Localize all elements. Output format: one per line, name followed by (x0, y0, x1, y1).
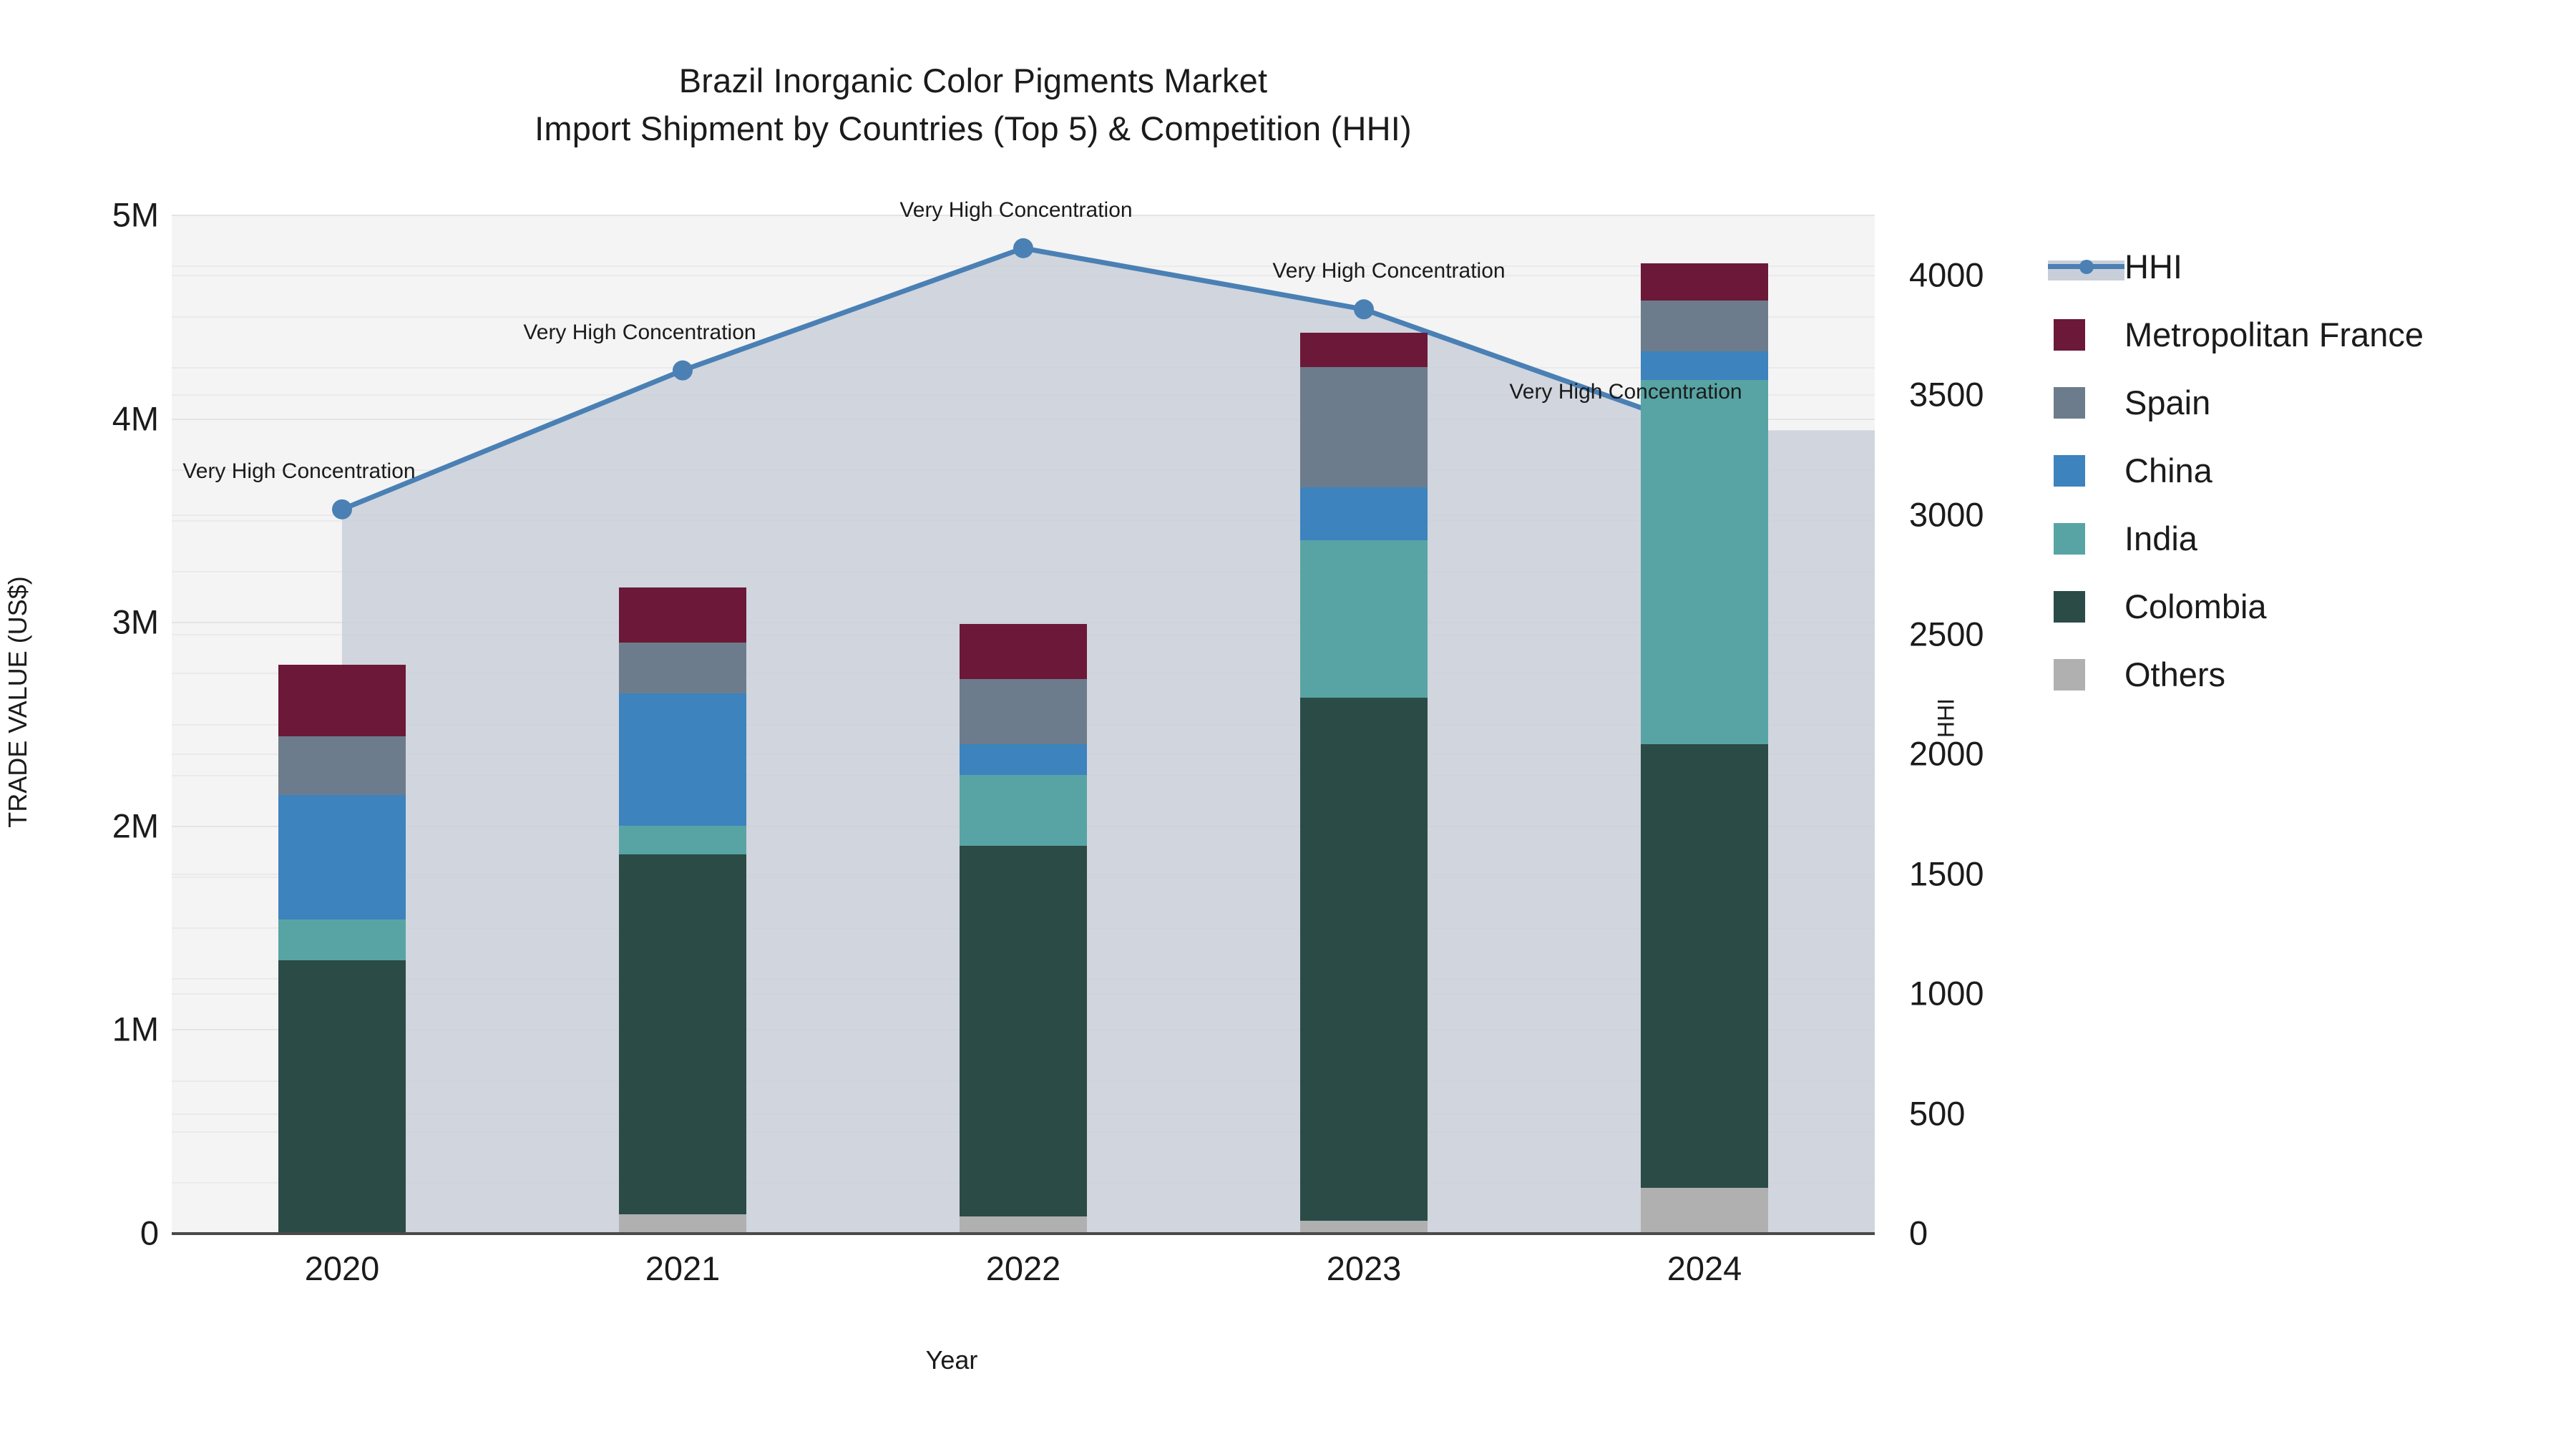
chart-title-line-2: Import Shipment by Countries (Top 5) & C… (0, 105, 1946, 153)
legend-line-icon (2048, 251, 2124, 283)
bar-segment[interactable] (1300, 540, 1428, 697)
chart-title: Brazil Inorganic Color Pigments Market I… (0, 57, 1946, 152)
bar-segment[interactable] (960, 846, 1087, 1216)
bar-segment[interactable] (1641, 380, 1768, 744)
legend-item-label: Spain (2124, 386, 2210, 419)
legend-swatch-icon (2054, 659, 2085, 691)
bar-segment[interactable] (1300, 367, 1428, 487)
hhi-annotation: Very High Concentration (182, 459, 415, 484)
chart-title-line-1: Brazil Inorganic Color Pigments Market (0, 57, 1946, 105)
x-axis-tick-label: 2022 (986, 1249, 1061, 1288)
bar-segment[interactable] (1300, 487, 1428, 540)
legend-item-label: HHI (2124, 250, 2182, 283)
x-axis-tick-label: 2023 (1327, 1249, 1402, 1288)
y-axis-left-tick-label: 4M (112, 399, 159, 438)
y-axis-left-title: TRADE VALUE (US$) (3, 480, 33, 924)
x-axis-tick-label: 2024 (1667, 1249, 1742, 1288)
bar-segment[interactable] (960, 679, 1087, 744)
bar-segment[interactable] (1641, 263, 1768, 300)
legend-swatch-icon (2054, 591, 2085, 623)
legend-swatch-icon (2054, 387, 2085, 419)
bar-segment[interactable] (1300, 1221, 1428, 1233)
bar-segment[interactable] (278, 736, 406, 796)
bar-segment[interactable] (619, 643, 746, 693)
y-axis-left-tick-label: 0 (140, 1214, 159, 1253)
chart-root: Brazil Inorganic Color Pigments Market I… (0, 0, 2576, 1449)
bar-segment[interactable] (960, 624, 1087, 679)
legend-item[interactable]: HHI (2048, 233, 2563, 301)
bar-segment[interactable] (1641, 744, 1768, 1188)
legend-item[interactable]: Spain (2048, 369, 2563, 436)
y-axis-right-tick-label: 3500 (1909, 375, 1984, 414)
y-axis-gap (169, 215, 172, 1235)
bar-segment[interactable] (619, 826, 746, 854)
bar-segment[interactable] (960, 1216, 1087, 1233)
bar-segment[interactable] (278, 919, 406, 960)
y-axis-right-title: HHI (1933, 575, 1960, 862)
legend-item-label: Others (2124, 658, 2225, 691)
hhi-annotation: Very High Concentration (523, 321, 756, 345)
x-axis-tick-label: 2020 (305, 1249, 380, 1288)
legend-item[interactable]: India (2048, 504, 2563, 572)
bar-segment[interactable] (1641, 301, 1768, 351)
bar-group-2023[interactable] (1300, 215, 1428, 1233)
y-axis-right-tick-label: 0 (1909, 1214, 1928, 1253)
bar-segment[interactable] (960, 775, 1087, 847)
y-axis-right-tick-label: 1000 (1909, 974, 1984, 1013)
y-axis-left-tick-label: 5M (112, 195, 159, 235)
bar-segment[interactable] (960, 744, 1087, 775)
bar-segment[interactable] (278, 960, 406, 1233)
bar-segment[interactable] (619, 587, 746, 643)
legend: HHIMetropolitan FranceSpainChinaIndiaCol… (2048, 233, 2563, 708)
stacked-bars-layer (172, 215, 1875, 1233)
bar-segment[interactable] (278, 795, 406, 919)
bar-segment[interactable] (278, 665, 406, 736)
bar-group-2024[interactable] (1641, 215, 1768, 1233)
legend-item[interactable]: Others (2048, 640, 2563, 708)
y-axis-left-tick-label: 2M (112, 806, 159, 845)
legend-item[interactable]: Metropolitan France (2048, 301, 2563, 369)
y-axis-left-tick-label: 3M (112, 602, 159, 642)
x-axis-title: Year (0, 1345, 1903, 1375)
hhi-annotation: Very High Concentration (1272, 259, 1505, 283)
y-axis-left-tick-label: 1M (112, 1010, 159, 1049)
y-axis-right-tick-label: 3000 (1909, 494, 1984, 534)
x-axis-line (172, 1232, 1875, 1235)
legend-item-label: India (2124, 522, 2197, 555)
y-axis-right-tick-label: 4000 (1909, 255, 1984, 294)
bar-group-2021[interactable] (619, 215, 746, 1233)
legend-swatch-icon (2054, 455, 2085, 487)
legend-item[interactable]: Colombia (2048, 572, 2563, 640)
legend-item-label: Metropolitan France (2124, 318, 2424, 351)
bar-segment[interactable] (1641, 351, 1768, 380)
bar-segment[interactable] (1300, 333, 1428, 367)
legend-swatch-icon (2054, 319, 2085, 351)
legend-item-label: China (2124, 454, 2212, 487)
legend-swatch-icon (2054, 523, 2085, 555)
hhi-annotation: Very High Concentration (899, 198, 1132, 223)
bar-group-2022[interactable] (960, 215, 1087, 1233)
bar-segment[interactable] (1641, 1188, 1768, 1233)
legend-item-label: Colombia (2124, 590, 2267, 623)
legend-item[interactable]: China (2048, 436, 2563, 504)
hhi-annotation: Very High Concentration (1509, 380, 1742, 404)
bar-segment[interactable] (619, 1214, 746, 1233)
x-axis-tick-label: 2021 (645, 1249, 721, 1288)
bar-segment[interactable] (1300, 698, 1428, 1221)
bar-segment[interactable] (619, 693, 746, 826)
y-axis-right-tick-label: 500 (1909, 1093, 1965, 1133)
bar-group-2020[interactable] (278, 215, 406, 1233)
bar-segment[interactable] (619, 854, 746, 1215)
